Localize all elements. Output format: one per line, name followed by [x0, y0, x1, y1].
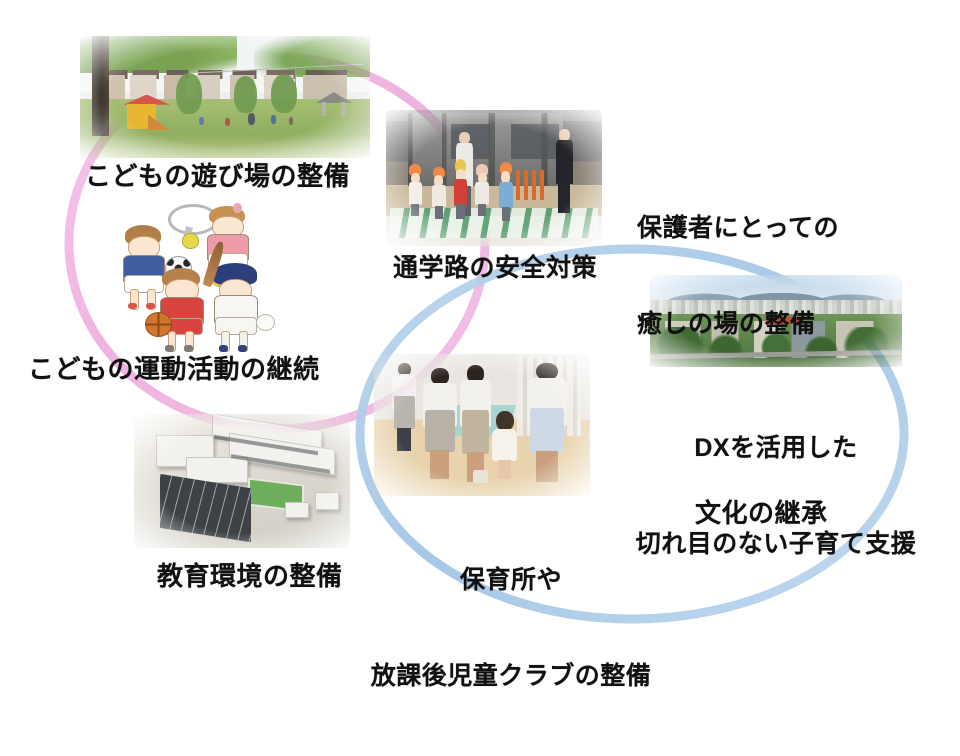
caption-line: 放課後児童クラブの整備	[371, 660, 652, 692]
toddler-figure	[491, 411, 519, 479]
child-figure-baseball	[209, 265, 261, 347]
park-photo	[80, 36, 370, 158]
caption-culture-inheritance: 文化の継承	[695, 497, 828, 530]
staff-figure-center	[422, 368, 459, 479]
caption-sports-continuation: こどもの運動活動の継続	[28, 353, 320, 386]
staff-figure-mid	[458, 365, 493, 481]
basketball-icon	[145, 312, 172, 337]
staff-figure-left	[391, 363, 417, 451]
adult-guard-figure	[554, 129, 573, 213]
childcare-photo	[374, 354, 590, 496]
caption-education-environment: 教育環境の整備	[157, 560, 343, 593]
road-safety-photo	[386, 110, 602, 246]
sports-illustration	[108, 198, 276, 350]
caption-line: DXを活用した	[636, 432, 917, 464]
caption-playground: こどもの遊び場の整備	[85, 160, 350, 193]
tennis-ball-icon	[182, 233, 199, 249]
staff-figure-right	[525, 363, 568, 482]
caption-line: 癒しの場の整備	[637, 308, 839, 340]
caption-line: 保護者にとっての	[637, 212, 839, 244]
caption-line: 保育所や	[371, 564, 652, 596]
concept-diagram-canvas: こどもの遊び場の整備 通学路の安全対策 保護者にとっての 癒しの場の整備 こども…	[0, 0, 960, 640]
school-aerial-photo	[134, 414, 350, 548]
caption-dx-childcare-support: DXを活用した 切れ目のない子育て支援	[636, 368, 917, 624]
caption-nursery-afterschool: 保育所や 放課後児童クラブの整備	[371, 500, 652, 756]
baseball-icon	[256, 314, 275, 331]
caption-school-route-safety: 通学路の安全対策	[393, 252, 597, 284]
caption-parent-healing-place: 保護者にとっての 癒しの場の整備	[637, 148, 839, 404]
caption-line: 切れ目のない子育て支援	[636, 528, 917, 560]
